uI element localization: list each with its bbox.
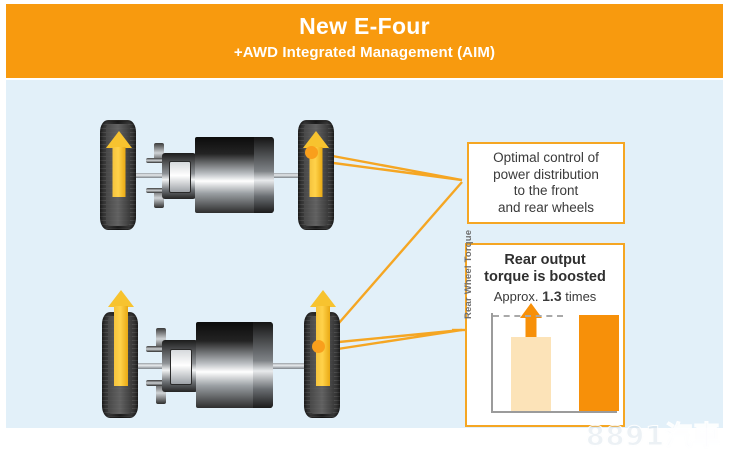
arrow-shaft — [113, 147, 126, 197]
page-subtitle: +AWD Integrated Management (AIM) — [6, 43, 723, 62]
front-differential — [162, 153, 196, 199]
callout-optimal-control: Optimal control of power distribution to… — [467, 142, 625, 224]
rear-right-torque-arrow — [309, 290, 337, 386]
arrow-head — [106, 131, 132, 148]
approx-prefix: Approx. — [494, 289, 539, 304]
front-callout-anchor-dot — [305, 146, 318, 159]
rear-left-torque-arrow — [107, 290, 135, 386]
front-motor-endcap — [254, 137, 274, 213]
approx-suffix: times — [565, 289, 596, 304]
rear-differential — [162, 340, 198, 392]
callout-optimal-line-1: Optimal control of — [493, 150, 599, 167]
header-banner: New E-Four +AWD Integrated Management (A… — [6, 4, 723, 78]
front-drive-motor — [195, 137, 273, 213]
rear-diff-hub — [170, 349, 192, 384]
arrow-head — [108, 290, 134, 307]
slide-canvas: New E-Four +AWD Integrated Management (A… — [0, 0, 731, 457]
rear-motor-endcap — [253, 322, 273, 408]
front-axle-assembly — [100, 120, 335, 230]
callout-torque-title: Rear output torque is boosted — [473, 252, 617, 286]
chart-x-axis — [491, 411, 617, 413]
rear-callout-anchor-dot — [312, 340, 325, 353]
callout-optimal-text: Optimal control of power distribution to… — [489, 150, 603, 216]
callout-torque-approx: Approx. 1.3 times — [473, 288, 617, 305]
callout-rear-torque: Rear output torque is boosted Approx. 1.… — [465, 243, 625, 427]
callout-optimal-line-3: to the front — [493, 183, 599, 200]
approx-value: 1.3 — [542, 288, 561, 304]
arrow-head — [310, 290, 336, 307]
chart-bar-new-efour — [579, 315, 619, 411]
callout-optimal-line-2: power distribution — [493, 167, 599, 184]
front-left-torque-arrow — [106, 131, 132, 197]
page-title: New E-Four — [6, 13, 723, 40]
arrow-head — [303, 131, 329, 148]
rear-drive-motor — [196, 322, 272, 408]
callout-torque-title-line-1: Rear output — [473, 252, 617, 269]
chart-bar-conventional — [511, 337, 551, 411]
chart-reference-dashed-line — [493, 315, 563, 317]
front-right-torque-arrow — [303, 131, 329, 197]
callout-optimal-line-4: and rear wheels — [493, 200, 599, 217]
front-diff-hub — [169, 161, 190, 192]
rear-torque-bar-chart: Rear Wheel Torque — [473, 311, 621, 423]
chart-plot-area — [493, 313, 617, 411]
chart-y-axis-label: Rear Wheel Torque — [463, 227, 475, 319]
chart-increase-arrow-icon — [520, 303, 542, 337]
rear-axle-assembly — [96, 290, 344, 418]
arrow-shaft — [526, 317, 537, 337]
callout-torque-title-line-2: torque is boosted — [473, 269, 617, 286]
watermark: 8891汽車 — [586, 414, 721, 453]
arrow-shaft — [114, 306, 128, 386]
